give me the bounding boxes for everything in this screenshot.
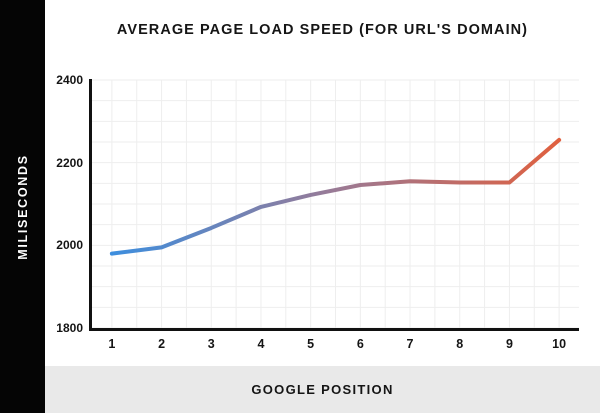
series-polyline xyxy=(112,140,559,254)
x-tick-label: 1 xyxy=(108,337,115,351)
x-tick-label: 4 xyxy=(257,337,264,351)
x-tick-label: 8 xyxy=(456,337,463,351)
chart-title: AVERAGE PAGE LOAD SPEED (FOR URL'S DOMAI… xyxy=(45,22,600,38)
plot-area: 2400220020001800 12345678910 xyxy=(92,80,579,328)
x-tick-label: 7 xyxy=(407,337,414,351)
x-axis-title: GOOGLE POSITION xyxy=(45,366,600,413)
y-tick-label: 2400 xyxy=(56,73,83,87)
y-axis-rail: MILISECONDS xyxy=(0,0,45,413)
y-tick-label: 2200 xyxy=(56,156,83,170)
chart-figure: MILISECONDS AVERAGE PAGE LOAD SPEED (FOR… xyxy=(0,0,600,413)
x-tick-label: 10 xyxy=(552,337,566,351)
x-axis-spine xyxy=(89,328,579,331)
x-tick-label: 9 xyxy=(506,337,513,351)
y-axis-spine xyxy=(89,79,92,329)
data-line xyxy=(92,80,579,328)
y-axis-title: MILISECONDS xyxy=(16,154,30,260)
x-tick-label: 5 xyxy=(307,337,314,351)
x-axis-band: GOOGLE POSITION xyxy=(45,366,600,413)
x-tick-label: 6 xyxy=(357,337,364,351)
chart-card: AVERAGE PAGE LOAD SPEED (FOR URL'S DOMAI… xyxy=(45,0,600,366)
x-tick-label: 3 xyxy=(208,337,215,351)
y-tick-label: 2000 xyxy=(56,238,83,252)
y-tick-label: 1800 xyxy=(56,321,83,335)
x-tick-label: 2 xyxy=(158,337,165,351)
